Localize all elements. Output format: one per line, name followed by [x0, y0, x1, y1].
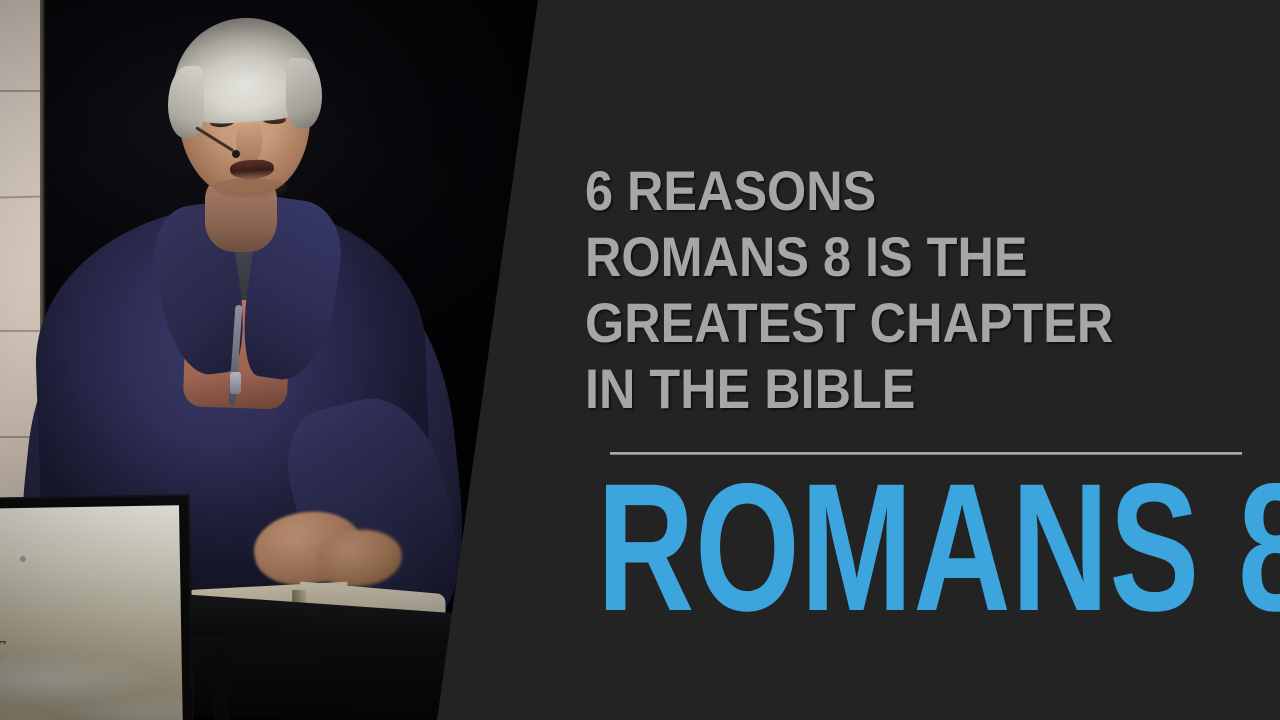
video-frame: RIST 6 REASONS ROMANS 8 IS THE GREATEST …	[0, 0, 1280, 720]
confidence-monitor: RIST	[0, 496, 192, 720]
hair-side-right	[286, 58, 322, 128]
kicker-heading: 6 REASONS ROMANS 8 IS THE GREATEST CHAPT…	[585, 158, 1190, 422]
chin-shadow	[212, 178, 288, 198]
zipper-pull	[230, 372, 241, 394]
monitor-cursor-dot	[20, 556, 26, 562]
confidence-monitor-text: RIST	[0, 636, 6, 663]
nose	[236, 120, 262, 164]
confidence-monitor-screen: RIST	[0, 505, 183, 720]
slide-title: ROMANS 8	[597, 462, 1280, 632]
headset-microphone-capsule	[232, 150, 240, 158]
title-panel-content: 6 REASONS ROMANS 8 IS THE GREATEST CHAPT…	[585, 0, 1265, 720]
